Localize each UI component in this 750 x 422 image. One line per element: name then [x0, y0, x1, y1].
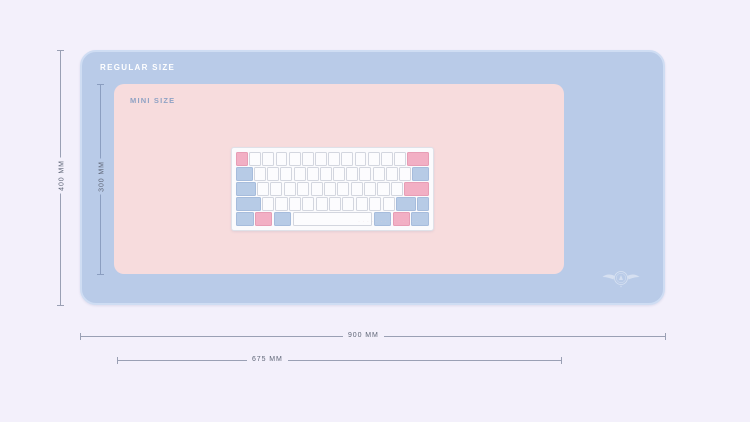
key[interactable] — [267, 167, 279, 181]
key[interactable] — [359, 167, 371, 181]
key[interactable] — [254, 167, 266, 181]
key[interactable] — [236, 167, 253, 181]
key[interactable] — [255, 212, 273, 226]
dim-cap-right — [561, 357, 562, 364]
key[interactable] — [341, 152, 353, 166]
key[interactable] — [294, 167, 306, 181]
key[interactable] — [280, 167, 292, 181]
winged-circle-emblem-icon — [601, 265, 641, 291]
key[interactable] — [396, 197, 416, 211]
key[interactable] — [417, 197, 429, 211]
key[interactable] — [276, 152, 288, 166]
key[interactable] — [257, 182, 269, 196]
key[interactable] — [368, 152, 380, 166]
key[interactable] — [249, 152, 261, 166]
key[interactable] — [236, 197, 261, 211]
keyboard-row-number-row — [236, 152, 429, 166]
key[interactable] — [274, 212, 292, 226]
key[interactable] — [411, 212, 429, 226]
key[interactable] — [373, 167, 385, 181]
key[interactable] — [386, 167, 398, 181]
regular-size-label: REGULAR SIZE — [100, 63, 175, 72]
key[interactable] — [369, 197, 381, 211]
key[interactable] — [337, 182, 349, 196]
key[interactable] — [311, 182, 323, 196]
dimension-label-900mm: 900 MM — [343, 332, 384, 339]
key[interactable] — [293, 212, 373, 226]
key[interactable] — [275, 197, 287, 211]
mini-size-label: MINI SIZE — [130, 96, 175, 105]
key[interactable] — [394, 152, 406, 166]
keyboard[interactable] — [231, 147, 434, 231]
keyboard-row-shift-row — [236, 197, 429, 211]
key[interactable] — [374, 212, 392, 226]
dimension-label-675mm: 675 MM — [247, 356, 288, 363]
key[interactable] — [351, 182, 363, 196]
key[interactable] — [355, 152, 367, 166]
keyboard-row-tab-row — [236, 167, 429, 181]
dim-cap-bottom — [97, 274, 104, 275]
key[interactable] — [333, 167, 345, 181]
key[interactable] — [262, 152, 274, 166]
key[interactable] — [289, 197, 301, 211]
key[interactable] — [407, 152, 429, 166]
key[interactable] — [412, 167, 429, 181]
dimension-label-300mm: 300 MM — [97, 159, 108, 195]
keyboard-row-bottom-row — [236, 212, 429, 226]
keyboard-key-grid — [236, 152, 429, 226]
key[interactable] — [329, 197, 341, 211]
key[interactable] — [391, 182, 403, 196]
key[interactable] — [302, 152, 314, 166]
key[interactable] — [289, 152, 301, 166]
key[interactable] — [328, 152, 340, 166]
key[interactable] — [316, 197, 328, 211]
key[interactable] — [342, 197, 354, 211]
dim-cap-right — [665, 333, 666, 340]
key[interactable] — [399, 167, 411, 181]
key[interactable] — [320, 167, 332, 181]
key[interactable] — [364, 182, 376, 196]
key[interactable] — [315, 152, 327, 166]
key[interactable] — [377, 182, 389, 196]
dim-line — [117, 360, 561, 361]
key[interactable] — [302, 197, 314, 211]
key[interactable] — [236, 182, 256, 196]
key[interactable] — [262, 197, 274, 211]
key[interactable] — [393, 212, 411, 226]
dimension-label-400mm: 400 MM — [57, 158, 68, 194]
key[interactable] — [324, 182, 336, 196]
keyboard-row-home-row — [236, 182, 429, 196]
key[interactable] — [307, 167, 319, 181]
illustration-canvas: 400 MM REGULAR SIZE 300 MM MINI SIZE — [0, 0, 750, 422]
key[interactable] — [356, 197, 368, 211]
key[interactable] — [270, 182, 282, 196]
key[interactable] — [236, 152, 248, 166]
key[interactable] — [297, 182, 309, 196]
dim-cap-bottom — [57, 305, 64, 306]
key[interactable] — [383, 197, 395, 211]
key[interactable] — [346, 167, 358, 181]
key[interactable] — [404, 182, 429, 196]
key[interactable] — [236, 212, 254, 226]
key[interactable] — [381, 152, 393, 166]
key[interactable] — [284, 182, 296, 196]
